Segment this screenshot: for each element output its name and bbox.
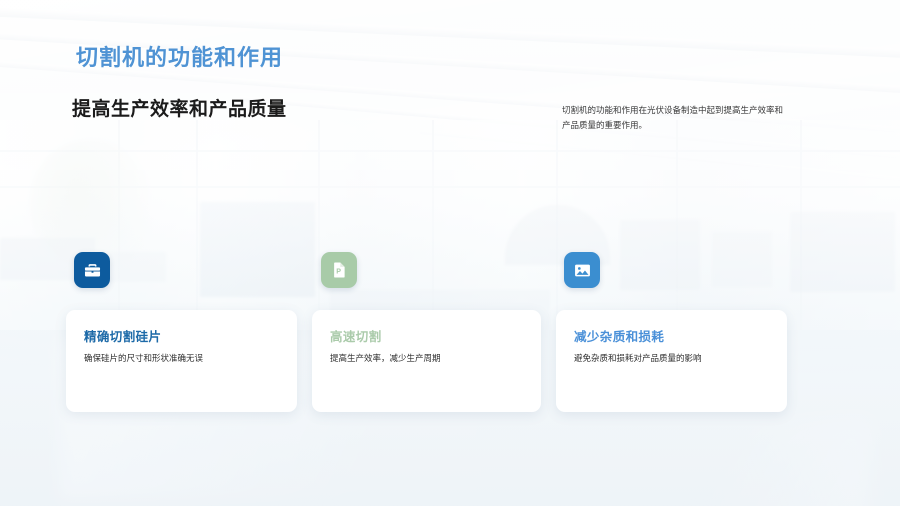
- toolbox-icon: [83, 261, 102, 280]
- card-title: 减少杂质和损耗: [574, 326, 769, 345]
- card-description: 提高生产效率，减少生产周期: [330, 352, 523, 365]
- feature-card-1[interactable]: 精确切割硅片 确保硅片的尺寸和形状准确无误: [66, 310, 297, 412]
- feature-card-3[interactable]: 减少杂质和损耗 避免杂质和损耗对产品质量的影响: [556, 310, 787, 412]
- slide-title: 切割机的功能和作用: [76, 40, 283, 72]
- image-icon: [573, 261, 592, 280]
- card-title: 精确切割硅片: [84, 326, 279, 345]
- file-powerpoint-icon-tile[interactable]: P: [321, 252, 357, 288]
- card-title: 高速切割: [330, 326, 523, 345]
- slide-subtitle: 提高生产效率和产品质量: [72, 94, 287, 121]
- card-description: 避免杂质和损耗对产品质量的影响: [574, 352, 769, 365]
- toolbox-icon-tile[interactable]: [74, 252, 110, 288]
- file-powerpoint-icon: P: [330, 261, 348, 279]
- presentation-slide: 切割机的功能和作用 提高生产效率和产品质量 切割机的功能和作用在光伏设备制造中起…: [0, 0, 900, 506]
- feature-card-2[interactable]: 高速切割 提高生产效率，减少生产周期: [312, 310, 541, 412]
- svg-text:P: P: [336, 267, 341, 275]
- image-icon-tile[interactable]: [564, 252, 600, 288]
- intro-paragraph: 切割机的功能和作用在光伏设备制造中起到提高生产效率和产品质量的重要作用。: [562, 103, 790, 133]
- card-description: 确保硅片的尺寸和形状准确无误: [84, 352, 279, 365]
